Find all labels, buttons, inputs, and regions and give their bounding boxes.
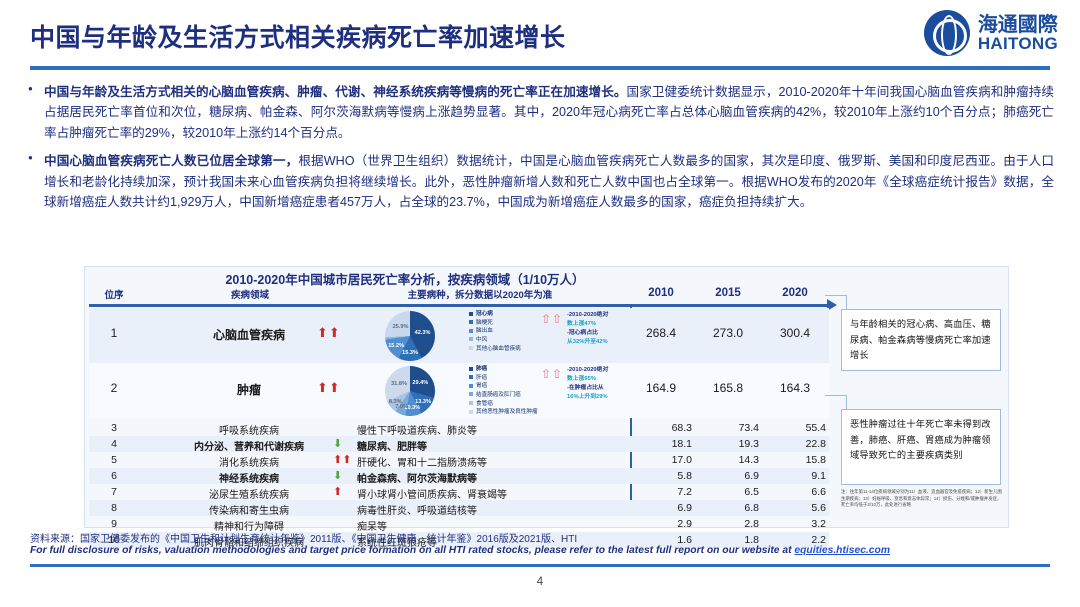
row-note: -2010-2020绝对数上涨95%-在肿瘤占比从16%上升到29% [567,366,637,402]
column-header-2010: 2010 [630,287,692,299]
column-header-rank: 位序 [91,287,137,301]
exhibit-panel: 2010-2020年中国城市居民死亡率分析，按疾病领域（1/10万人） 位序 疾… [84,266,1009,528]
trend-up-arrow-icon: ⬆⬆ [317,325,341,341]
brand-text: 海通國際 HAITONG [978,15,1058,52]
row-rank: 1 [91,326,137,340]
bullet-lead: 中国心脑血管疾病死亡人数已位居全球第一， [44,154,298,168]
row-value-2020: 164.3 [764,381,826,395]
row-value-2010: 7.2 [634,486,692,498]
legend-swatch-icon [469,320,473,324]
pie-slice-label: 8.3% [389,399,402,405]
pie-slice-label: 31.8% [391,381,407,387]
legend-swatch-icon [469,410,473,414]
row-value-2010: 2.9 [634,518,692,530]
pie-slice-label: 15.2% [388,343,404,349]
pie-slice-label: 25.9% [393,324,409,330]
row-rank: 9 [91,518,137,530]
row-value-2010: 164.9 [630,381,692,395]
exhibit-title: 2010-2020年中国城市居民死亡率分析，按疾病领域（1/10万人） [85,269,725,288]
legend-swatch-icon [469,312,473,316]
row-rank: 6 [91,470,137,482]
row-major-diseases: 帕金森病、阿尔茨海默病等 [357,470,477,485]
legend-swatch-icon [469,337,473,341]
pie-slice-label: 15.3% [402,350,418,356]
table-row: 6神经系统疾病⬇帕金森病、阿尔茨海默病等5.86.99.1 [89,468,829,484]
row-major-diseases: 肝硬化、胃和十二指肠溃疡等 [357,454,487,469]
legend-swatch-icon [469,384,473,388]
header-divider [30,66,1050,70]
row-value-2020: 6.6 [768,486,826,498]
row-rank: 4 [91,438,137,450]
row-value-2015: 6.5 [701,486,759,498]
row-value-2015: 14.3 [701,454,759,466]
row-disease-area: 传染病和寄生虫病 [167,502,331,517]
row-major-diseases: 肾小球肾小管间质疾病、肾衰竭等 [357,486,507,501]
note-up-arrow-icon: ⇧⇧ [541,312,563,326]
column-header-2020: 2020 [764,287,826,299]
row-value-2020: 15.8 [768,454,826,466]
row-value-2015: 165.8 [697,381,759,395]
row-note-line: 数上涨47% [567,320,637,329]
disclaimer-line: For full disclosure of risks, valuation … [30,545,1040,556]
row-value-2015: 73.4 [701,422,759,434]
row-major-diseases: 糖尿病、肥胖等 [357,438,427,453]
legend-entry: 其他恶性肿瘤及良性肿瘤 [469,408,584,417]
row-value-2010: 18.1 [634,438,692,450]
row-value-2015: 2.8 [701,518,759,530]
row-value-2010: 17.0 [634,454,692,466]
page-number: 4 [0,576,1080,588]
pie-slice-label: 42.3% [415,330,431,336]
bullet-list: 中国与年龄及生活方式相关的心脑血管疾病、肿瘤、代谢、神经系统疾病等慢病的死亡率正… [26,82,1054,220]
row-disease-area: 内分泌、营养和代谢疾病 [167,438,331,453]
haitong-emblem-icon [924,10,970,56]
row-value-2015: 19.3 [701,438,759,450]
table-row: 7泌尿生殖系统疾病⬆肾小球肾小管间质疾病、肾衰竭等7.26.56.6 [89,484,829,500]
row-value-2020: 9.1 [768,470,826,482]
row-value-2010: 268.4 [630,326,692,340]
legend-label: 脑梗死 [476,320,493,326]
column-header-major: 主要病种，拆分数据以2020年为准 [335,287,625,301]
callout-box-1: 与年龄相关的冠心病、高血压、糖尿病、帕金森病等慢病死亡率加速增长 [841,309,1001,371]
pie-chart: 29.4%13.3%10.3%7.0%8.3%31.8% [375,366,445,416]
row-value-2015: 273.0 [697,326,759,340]
row-value-2015: 6.8 [701,502,759,514]
row-major-diseases: 慢性下呼吸道疾病、肺炎等 [357,422,477,437]
row-note-line: -在肿瘤占比从 [567,384,637,393]
pie-chart: 42.3%15.3%15.2%25.9% [375,311,445,361]
trend-down-arrow-icon: ⬇ [333,437,342,450]
row-rank: 2 [91,381,137,395]
trend-up-arrow-icon: ⬆ [333,485,342,498]
trend-up-arrow-icon: ⬆⬆ [333,453,351,466]
row-note: -2010-2020绝对数上涨47%-冠心病占比从32%升至42% [567,311,637,347]
legend-swatch-icon [469,346,473,350]
row-note-line: -冠心病占比 [567,329,637,338]
page-title: 中国与年龄及生活方式相关疾病死亡率加速增长 [30,18,566,54]
legend-swatch-icon [469,329,473,333]
legend-label: 肝癌 [476,375,487,381]
callout-box-2: 恶性肿瘤过往十年死亡率未得到改善，肺癌、肝癌、胃癌成为肿瘤领域导致死亡的主要疾病… [841,409,1001,485]
table-row: 2肿瘤⬆⬆29.4%13.3%10.3%7.0%8.3%31.8%肺癌肝癌胃癌结… [89,363,829,418]
legend-label: 中风 [476,337,487,343]
row-value-2020: 3.2 [768,518,826,530]
row-disease-area: 消化系统疾病 [167,454,331,469]
disclaimer-link[interactable]: equities.htisec.com [794,545,890,556]
row-disease-area: 泌尿生殖系统疾病 [167,486,331,501]
row-value-2010: 68.3 [634,422,692,434]
header-axis-line [89,304,829,307]
row-major-diseases: 病毒性肝炎、呼吸道结核等 [357,502,477,517]
brand-name-cn: 海通國際 [978,15,1058,35]
row-value-2020: 55.4 [768,422,826,434]
row-note-line: 16%上升到29% [567,393,637,402]
row-value-2020: 22.8 [768,438,826,450]
legend-swatch-icon [469,375,473,379]
row-value-2020: 5.6 [768,502,826,514]
row-rank: 7 [91,486,137,498]
row-value-2015: 6.9 [701,470,759,482]
row-value-2010: 5.8 [634,470,692,482]
source-line: 资料来源：国家卫健委发布的《中国卫生和计划生育统计年鉴》2011版、《中国卫生健… [30,530,1040,545]
legend-label: 食管癌 [476,401,493,407]
haitong-logo: 海通國際 HAITONG [924,10,1058,56]
legend-label: 胃癌 [476,383,487,389]
row-disease-area: 肿瘤 [185,381,313,398]
bullet-item: 中国心脑血管疾病死亡人数已位居全球第一，根据WHO（世界卫生组织）数据统计，中国… [26,151,1054,212]
column-header-2015: 2015 [697,287,759,299]
legend-label: 其他恶性肿瘤及良性肿瘤 [476,409,538,415]
row-rank: 5 [91,454,137,466]
row-note-line: -2010-2020绝对 [567,366,637,375]
legend-label: 冠心病 [476,311,493,317]
footer-divider [30,564,1050,567]
row-note-line: 从32%升至42% [567,338,637,347]
trend-up-arrow-icon: ⬆⬆ [317,380,341,396]
row-rank: 8 [91,502,137,514]
brand-name-en: HAITONG [978,35,1058,52]
legend-swatch-icon [469,401,473,405]
bullet-lead: 中国与年龄及生活方式相关的心脑血管疾病、肿瘤、代谢、神经系统疾病等慢病的死亡率正… [44,85,627,99]
table-row: 4内分泌、营养和代谢疾病⬇糖尿病、肥胖等18.119.322.8 [89,436,829,452]
column-header-area: 疾病领域 [195,287,305,301]
row-rank: 3 [91,422,137,434]
legend-swatch-icon [469,392,473,396]
row-disease-area: 呼吸系统疾病 [167,422,331,437]
row-disease-area: 神经系统疾病 [167,470,331,485]
note-up-arrow-icon: ⇧⇧ [541,367,563,381]
table-row: 5消化系统疾病⬆⬆肝硬化、胃和十二指肠溃疡等17.014.315.8 [89,452,829,468]
slide-header: 中国与年龄及生活方式相关疾病死亡率加速增长 海通國際 HAITONG [0,0,1080,68]
disclaimer-text: For full disclosure of risks, valuation … [30,545,794,556]
table-row: 8传染病和寄生虫病病毒性肝炎、呼吸道结核等6.96.85.6 [89,500,829,516]
bullet-item: 中国与年龄及生活方式相关的心脑血管疾病、肿瘤、代谢、神经系统疾病等慢病的死亡率正… [26,82,1054,143]
trend-down-arrow-icon: ⬇ [333,469,342,482]
legend-label: 其他心脑血管疾病 [476,346,521,352]
table-row: 1心脑血管疾病⬆⬆42.3%15.3%15.2%25.9%冠心病脑梗死脑出血中风… [89,308,829,363]
pie-slice-label: 29.4% [412,380,428,386]
legend-label: 肺癌 [476,366,487,372]
row-value-2010: 6.9 [634,502,692,514]
row-value-2020: 300.4 [764,326,826,340]
row-disease-area: 心脑血管疾病 [185,326,313,343]
row-note-line: -2010-2020绝对 [567,311,637,320]
exhibit-footnote: 注：往年第11-14位疾病领域分别为11）血液、造血器官及免疫疾病；12）新生儿… [841,489,1003,509]
legend-swatch-icon [469,367,473,371]
legend-label: 脑出血 [476,328,493,334]
legend-label: 结直肠癌及肛门癌 [476,392,521,398]
table-row: 3呼吸系统疾病慢性下呼吸道疾病、肺炎等68.373.455.4 [89,420,829,436]
row-note-line: 数上涨95% [567,375,637,384]
